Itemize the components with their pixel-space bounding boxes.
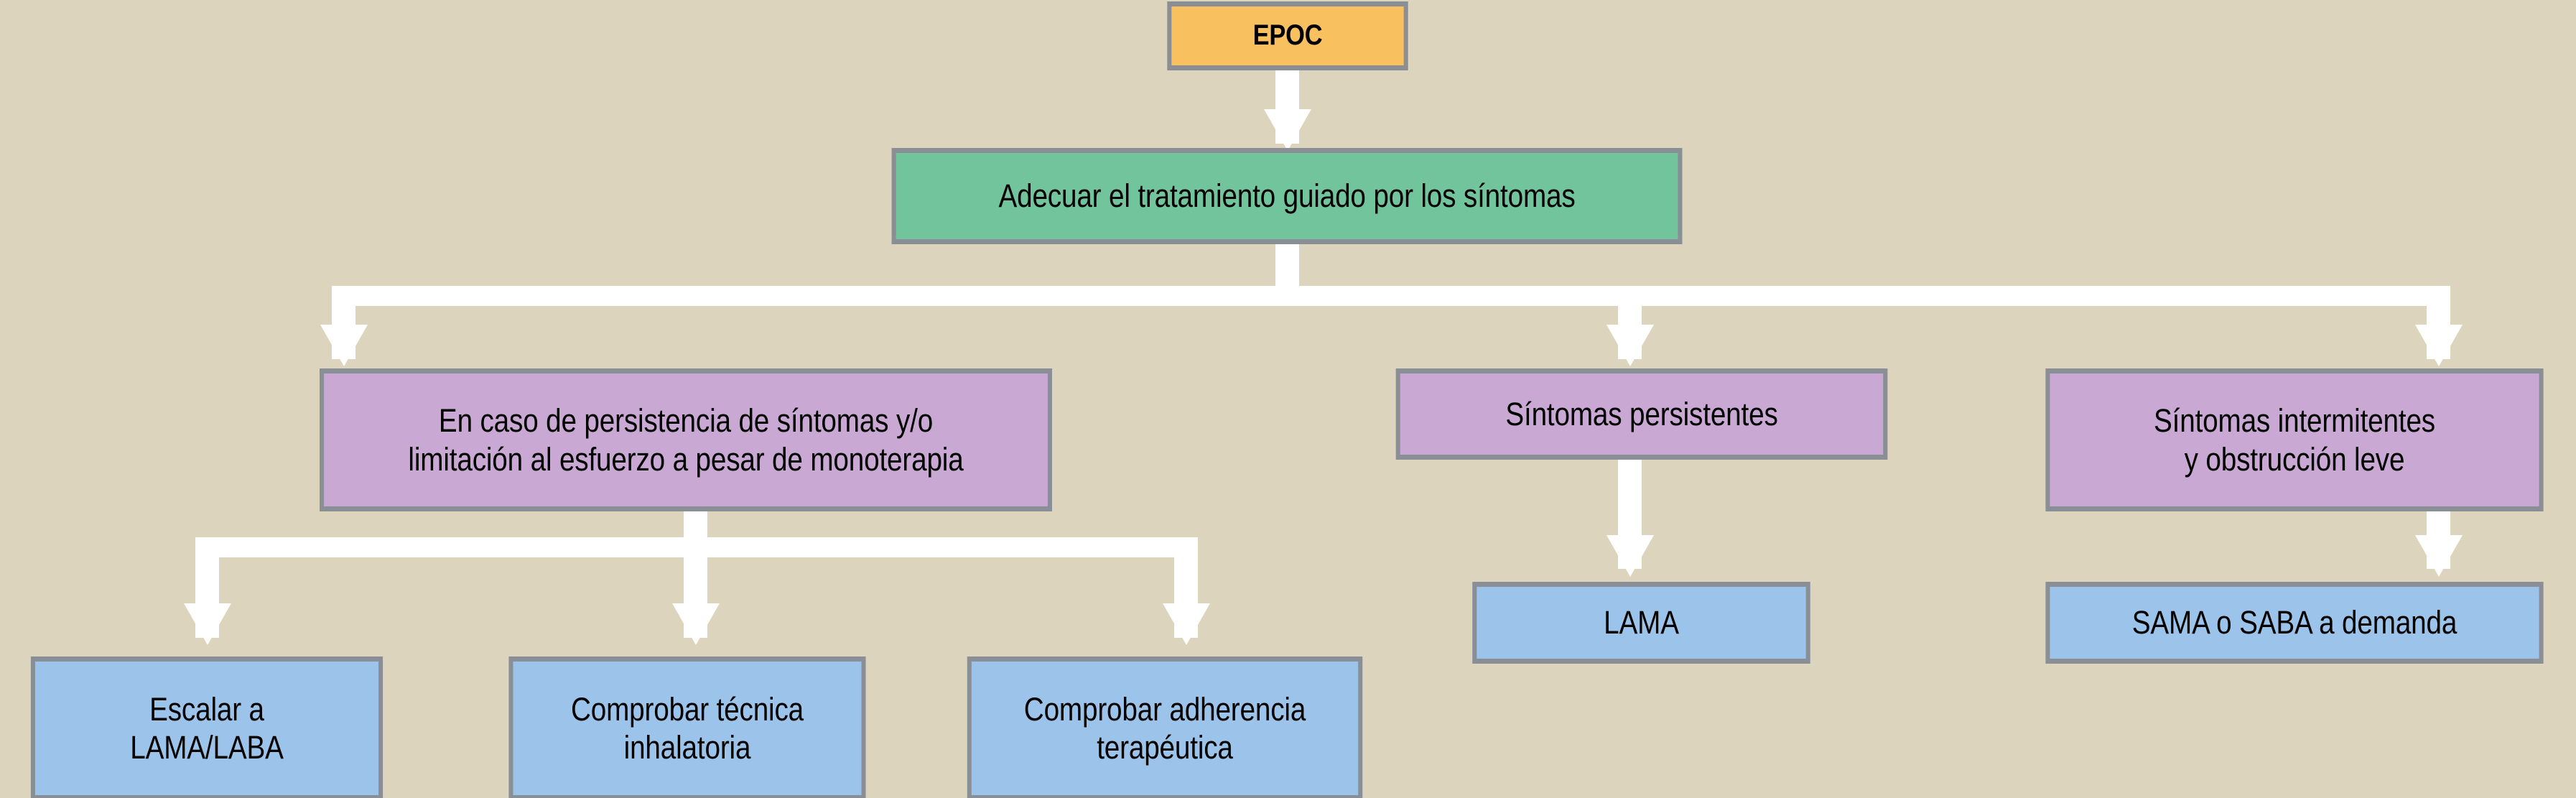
edge-mid-to-lama-head — [1606, 535, 1654, 577]
edge-left-to-action1-head — [184, 603, 231, 645]
flowchart-canvas: EPOC Adecuar el tratamiento guiado por l… — [0, 0, 2576, 798]
node-persistencia-sintomas[interactable]: En caso de persistencia de síntomas y/o … — [320, 368, 1052, 511]
node-sintomas-persistentes[interactable]: Síntomas persistentes — [1396, 368, 1888, 460]
node-comprobar-tecnica-label: Comprobar técnica inhalatoria — [513, 690, 861, 766]
edge-root-to-strategy-head — [1264, 109, 1311, 151]
node-lama-label: LAMA — [1477, 603, 1805, 641]
node-adecuar-tratamiento-label: Adecuar el tratamiento guiado por los sí… — [896, 177, 1678, 215]
edge-right-to-sama-head — [2415, 535, 2463, 577]
node-lama[interactable]: LAMA — [1472, 582, 1810, 664]
node-sintomas-intermitentes-label: Síntomas intermitentes y obstrucción lev… — [2050, 402, 2539, 478]
node-comprobar-tecnica[interactable]: Comprobar técnica inhalatoria — [508, 657, 865, 798]
node-adecuar-tratamiento[interactable]: Adecuar el tratamiento guiado por los sí… — [892, 148, 1683, 244]
node-comprobar-adherencia-label: Comprobar adherencia terapéutica — [972, 690, 1358, 766]
edge-strategy-to-mid-head — [1606, 325, 1654, 366]
edge-strategy-stem — [1275, 244, 1299, 287]
node-sintomas-persistentes-label: Síntomas persistentes — [1400, 395, 1884, 433]
node-persistencia-sintomas-label: En caso de persistencia de síntomas y/o … — [324, 402, 1048, 478]
node-epoc[interactable]: EPOC — [1167, 1, 1408, 70]
node-sama-saba[interactable]: SAMA o SABA a demanda — [2045, 582, 2543, 664]
edge-left-to-action2-head — [672, 603, 720, 645]
node-escalar-lama-laba[interactable]: Escalar a LAMA/LABA — [31, 657, 383, 798]
edge-left-to-action3-head — [1163, 603, 1210, 645]
node-epoc-label: EPOC — [1171, 19, 1403, 52]
node-sama-saba-label: SAMA o SABA a demanda — [2050, 603, 2539, 641]
edge-strategy-hbar — [332, 286, 2450, 306]
node-escalar-lama-laba-label: Escalar a LAMA/LABA — [35, 690, 378, 766]
node-comprobar-adherencia[interactable]: Comprobar adherencia terapéutica — [967, 657, 1362, 798]
edge-strategy-to-right-head — [2415, 325, 2463, 366]
node-sintomas-intermitentes[interactable]: Síntomas intermitentes y obstrucción lev… — [2045, 368, 2543, 511]
edge-strategy-to-left-head — [320, 325, 368, 366]
